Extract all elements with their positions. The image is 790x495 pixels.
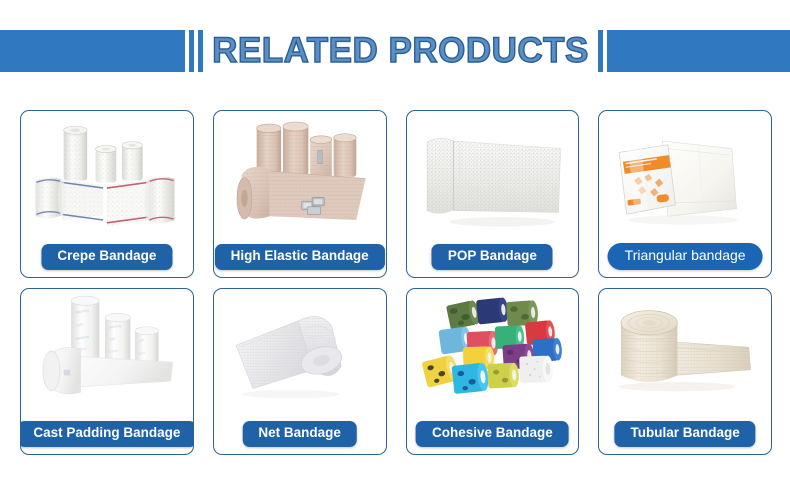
product-image-triangular-bandage (599, 111, 771, 243)
banner-ticks-right (598, 30, 612, 72)
product-label[interactable]: Cohesive Bandage (416, 421, 569, 447)
product-image-crepe-bandage (21, 111, 193, 243)
product-card-pop-bandage[interactable]: POP Bandage (406, 110, 580, 278)
product-card-high-elastic-bandage[interactable]: High Elastic Bandage (213, 110, 387, 278)
product-label[interactable]: Tubular Bandage (614, 421, 755, 447)
banner-bar-right (612, 30, 790, 72)
product-label[interactable]: High Elastic Bandage (215, 244, 385, 270)
banner-center: RELATED PRODUCTS (178, 30, 612, 72)
svg-text:pad: pad (138, 337, 144, 342)
product-image-net-bandage (214, 289, 386, 421)
product-card-triangular-bandage[interactable]: Triangular bandage (598, 110, 772, 278)
related-products-page: RELATED PRODUCTS (0, 0, 790, 495)
product-card-crepe-bandage[interactable]: Crepe Bandage (20, 110, 194, 278)
product-card-cast-padding-bandage[interactable]: padding soft padding 10cm padding soft (20, 288, 194, 456)
product-label[interactable]: Crepe Bandage (41, 244, 172, 270)
product-image-pop-bandage (407, 111, 579, 243)
product-label[interactable]: POP Bandage (432, 244, 553, 270)
product-label[interactable]: Triangular bandage (608, 243, 763, 269)
product-card-net-bandage[interactable]: Net Bandage (213, 288, 387, 456)
section-banner: RELATED PRODUCTS (0, 30, 790, 72)
banner-tick-icon (189, 30, 194, 72)
banner-bar-left (0, 30, 178, 72)
product-image-high-elastic-bandage (214, 111, 386, 243)
svg-text:soft: soft (109, 336, 115, 341)
product-image-tubular-bandage (599, 289, 771, 421)
banner-tick-icon (598, 30, 603, 72)
page-title: RELATED PRODUCTS (203, 30, 598, 72)
product-card-tubular-bandage[interactable]: Tubular Bandage (598, 288, 772, 456)
product-card-cohesive-bandage[interactable]: Cohesive Bandage (406, 288, 580, 456)
product-image-cast-padding-bandage: padding soft padding 10cm padding soft (21, 289, 193, 421)
product-grid: Crepe Bandage (20, 110, 772, 455)
banner-tick-icon (178, 30, 185, 72)
product-label[interactable]: Net Bandage (242, 421, 357, 447)
product-label[interactable]: Cast Padding Bandage (20, 421, 194, 447)
product-image-cohesive-bandage (407, 289, 579, 421)
banner-ticks-left (178, 30, 203, 72)
